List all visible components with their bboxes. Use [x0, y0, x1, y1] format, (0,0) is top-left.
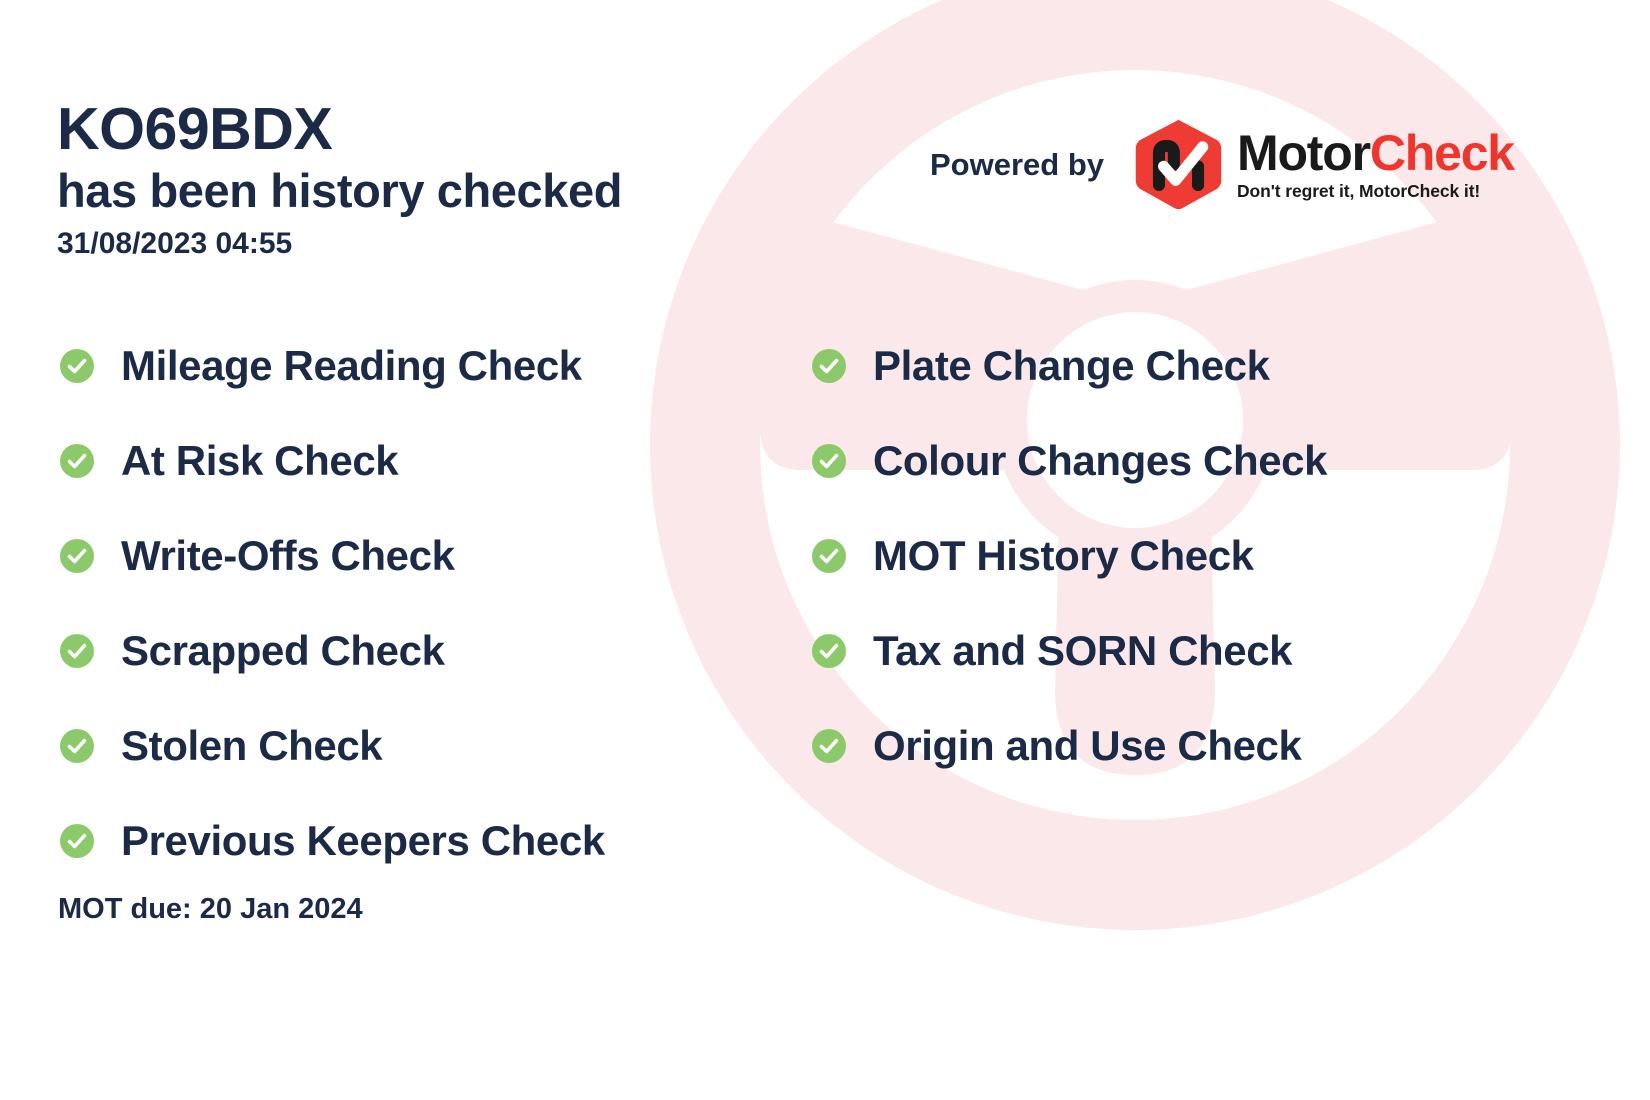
check-item: MOT History Check: [812, 508, 1327, 603]
check-item: At Risk Check: [60, 413, 605, 508]
check-circle-icon: [60, 444, 94, 478]
check-item-label: MOT History Check: [873, 532, 1254, 580]
powered-by-label: Powered by: [930, 147, 1104, 183]
check-circle-icon: [812, 444, 846, 478]
check-item: Mileage Reading Check: [60, 318, 605, 413]
check-circle-icon: [60, 824, 94, 858]
motorcheck-hexagon-logo-icon: [1132, 118, 1225, 211]
check-item-label: Tax and SORN Check: [873, 627, 1292, 675]
check-item-label: At Risk Check: [121, 437, 398, 485]
registration-number: KO69BDX: [57, 98, 622, 161]
logo-word-motor: Motor: [1237, 125, 1370, 181]
motorcheck-logo[interactable]: MotorCheck Don't regret it, MotorCheck i…: [1132, 118, 1514, 211]
check-item: Write-Offs Check: [60, 508, 605, 603]
check-timestamp: 31/08/2023 04:55: [57, 226, 622, 262]
check-circle-icon: [60, 634, 94, 668]
logo-tagline: Don't regret it, MotorCheck it!: [1237, 183, 1514, 201]
check-item-label: Plate Change Check: [873, 342, 1270, 390]
check-circle-icon: [60, 539, 94, 573]
check-circle-icon: [60, 729, 94, 763]
page-title: has been history checked: [57, 163, 622, 218]
check-item: Plate Change Check: [812, 318, 1327, 413]
check-item-label: Origin and Use Check: [873, 722, 1301, 770]
mot-due-date: MOT due: 20 Jan 2024: [58, 893, 363, 926]
check-list-left: Mileage Reading Check At Risk Check Writ…: [60, 318, 605, 888]
check-item: Origin and Use Check: [812, 698, 1327, 793]
check-item-label: Write-Offs Check: [121, 532, 455, 580]
check-item-label: Colour Changes Check: [873, 437, 1327, 485]
motorcheck-wordmark: MotorCheck Don't regret it, MotorCheck i…: [1237, 128, 1514, 201]
check-circle-icon: [812, 349, 846, 383]
check-item-label: Previous Keepers Check: [121, 817, 605, 865]
check-item-label: Mileage Reading Check: [121, 342, 582, 390]
check-item: Previous Keepers Check: [60, 793, 605, 888]
check-item: Scrapped Check: [60, 603, 605, 698]
check-item-label: Stolen Check: [121, 722, 382, 770]
logo-word-check: Check: [1370, 125, 1514, 181]
check-item: Stolen Check: [60, 698, 605, 793]
check-item-label: Scrapped Check: [121, 627, 445, 675]
header-block: KO69BDX has been history checked 31/08/2…: [57, 98, 622, 262]
powered-by-block: Powered by MotorCheck Don't regret it, M…: [930, 118, 1514, 211]
check-circle-icon: [60, 349, 94, 383]
check-circle-icon: [812, 634, 846, 668]
vehicle-history-check-card: KO69BDX has been history checked 31/08/2…: [0, 0, 1650, 1100]
check-circle-icon: [812, 729, 846, 763]
check-list-right: Plate Change Check Colour Changes Check …: [812, 318, 1327, 793]
check-item: Tax and SORN Check: [812, 603, 1327, 698]
check-circle-icon: [812, 539, 846, 573]
check-item: Colour Changes Check: [812, 413, 1327, 508]
